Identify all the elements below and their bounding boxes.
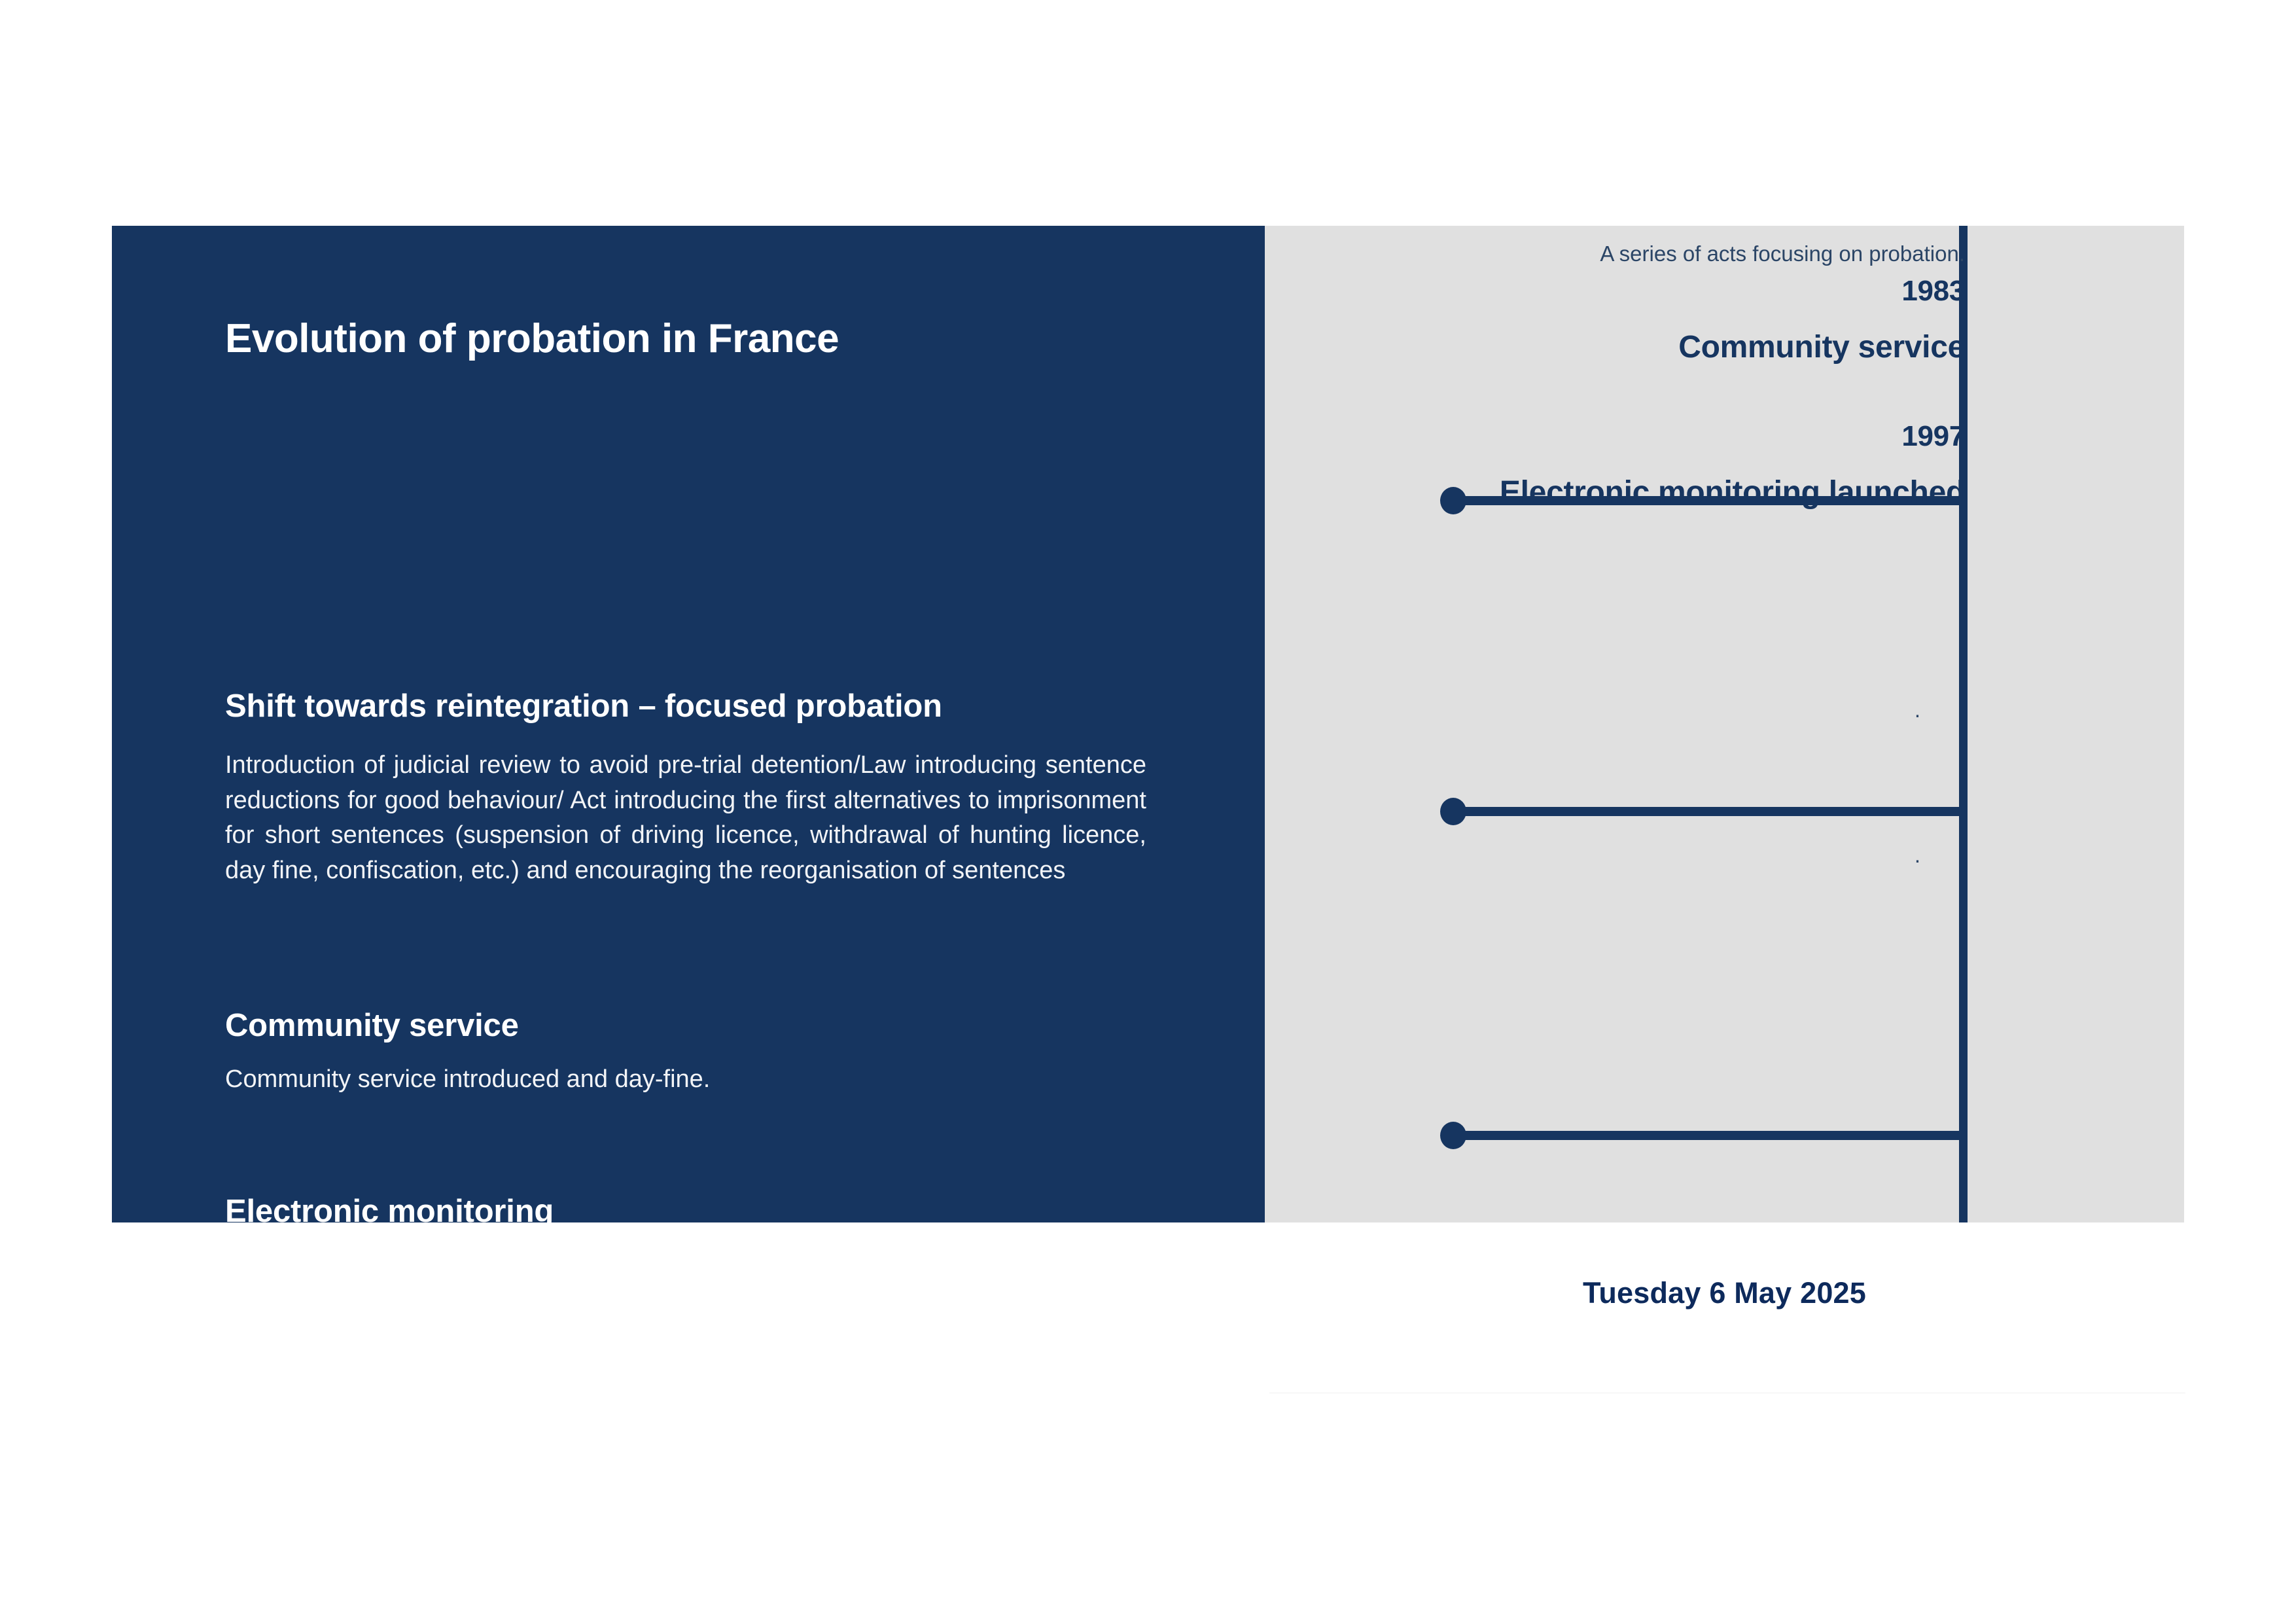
section-heading-community-service: Community service — [225, 1008, 1154, 1043]
timeline-minor-mark-1983: . — [1915, 699, 1920, 721]
section-body-shift-towards-reintegration: Introduction of judicial review to avoid… — [225, 748, 1146, 888]
timeline-marker-dot-icon — [1440, 798, 1466, 825]
timeline-connector-bar — [1452, 1131, 1964, 1140]
timeline-year-1997: 1997 — [1901, 420, 1965, 453]
timeline-connector-1997 — [1440, 1131, 1964, 1140]
footer-divider — [1269, 1393, 2185, 1393]
footer-date: Tuesday 6 May 2025 — [1265, 1276, 2184, 1310]
timeline-connector-bar — [1452, 807, 1964, 816]
page-title: Evolution of probation in France — [225, 317, 1154, 360]
timeline-year-1983: 1983 — [1901, 275, 1965, 308]
slide-canvas: Evolution of probation in France Shift t… — [0, 0, 2296, 1623]
timeline-connector-1983 — [1440, 807, 1964, 816]
timeline-marker-dot-icon — [1440, 487, 1466, 514]
timeline-marker-dot-icon — [1440, 1122, 1466, 1149]
left-panel-inner: Evolution of probation in France Shift t… — [225, 226, 1154, 1222]
timeline-minor-mark-1997: . — [1915, 844, 1920, 866]
section-body-community-service: Community service introduced and day-fin… — [225, 1062, 1146, 1097]
timeline-panel: 1970s Shift towards reintegration A seri… — [1265, 226, 2184, 1222]
timeline-description-1970s: A series of acts focusing on probation. — [1559, 239, 1965, 269]
section-heading-shift-towards-reintegration: Shift towards reintegration – focused pr… — [225, 689, 1154, 724]
section-heading-electronic-monitoring: Electronic monitoring — [225, 1194, 1154, 1222]
left-content-panel: Evolution of probation in France Shift t… — [112, 226, 1265, 1222]
timeline-vertical-line — [1959, 226, 1968, 1222]
timeline-title-1997: Electronic monitoring launched — [1500, 474, 1965, 510]
timeline-title-1983: Community service — [1678, 329, 1965, 365]
